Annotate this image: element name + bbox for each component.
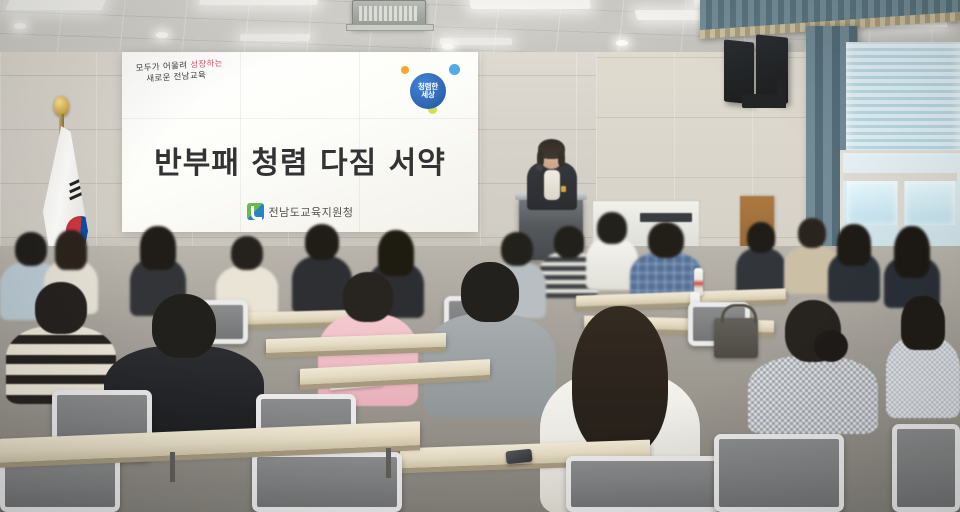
av-unit-slot [640, 213, 692, 222]
window-blinds[interactable] [846, 42, 960, 160]
attendee-head [15, 232, 47, 266]
education-office-logo-icon [247, 203, 264, 220]
attendee-hair [901, 296, 945, 350]
presenter-hair-side [558, 150, 565, 167]
logo-circle: 청렴한 세상 [410, 73, 446, 109]
chair-front[interactable] [714, 434, 844, 512]
attendee-hair [378, 230, 414, 276]
ceiling-light-panel [199, 0, 319, 5]
slide-headline: 반부패 청렴 다짐 서약 [122, 138, 478, 182]
attendee-head [501, 232, 533, 266]
speaker-mount-arm [777, 78, 786, 108]
chair-back [566, 456, 722, 512]
clean-world-logo: 청렴한 세상 [398, 62, 460, 114]
attendee-dark-navy [736, 222, 786, 296]
flag-finial-icon [54, 96, 69, 116]
logo-text-line2: 세상 [418, 91, 438, 99]
chair-back [892, 424, 960, 512]
attendee-dark-bob [828, 224, 880, 300]
slide-footer: 전남도교육지원청 [122, 203, 478, 220]
ceiling-light-panel [239, 34, 310, 41]
logo-text: 청렴한 세상 [418, 83, 438, 99]
slogan-line1-accent: 성장하는 [190, 59, 223, 71]
attendee-head [152, 294, 216, 358]
attendee-hair [55, 230, 87, 270]
ceiling-light-panel [469, 0, 591, 9]
attendee-head [461, 262, 519, 322]
downlight [616, 40, 628, 46]
attendee-hair-bun [814, 330, 848, 362]
attendee-striped-sweater [6, 282, 116, 402]
ceiling-light-panel [6, 0, 107, 10]
logo-dot-blue-icon [449, 64, 460, 75]
screen-seam [122, 118, 478, 119]
attendee-head [231, 236, 263, 270]
attendee-head [343, 272, 393, 322]
attendee-torso [748, 356, 878, 434]
attendee-head [597, 212, 627, 244]
attendee-head [554, 226, 584, 258]
slide-slogan: 모두가 어울려 성장하는 새로운 전남교육 [135, 56, 266, 87]
projection-screen: 모두가 어울려 성장하는 새로운 전남교육 청렴한 세상 반부패 청렴 다짐 서… [122, 52, 478, 232]
attendee-head [305, 224, 339, 260]
window-pane [905, 181, 955, 225]
trigram-icon [69, 177, 86, 187]
presenter-top [544, 170, 560, 200]
attendee-head [35, 282, 87, 334]
tote-bag [714, 318, 758, 358]
desk-leg [170, 452, 175, 482]
attendee-head [648, 222, 684, 258]
desk-leg [386, 448, 391, 478]
downlight [14, 23, 26, 29]
presenter-name-badge [561, 186, 566, 192]
downlight [442, 44, 454, 50]
attendee-hair [140, 226, 176, 270]
chair-front[interactable] [252, 452, 402, 512]
microphone-head-icon [536, 164, 543, 171]
smartphone[interactable] [505, 449, 532, 465]
chair-front[interactable] [892, 424, 960, 512]
window-mullion [898, 173, 904, 231]
projector-housing-trim [346, 24, 434, 31]
attendee-hair [572, 306, 668, 456]
chair-back [252, 452, 402, 512]
attendee-hair [837, 224, 871, 266]
attendee-head [747, 222, 775, 253]
conference-room-photo: 모두가 어울려 성장하는 새로운 전남교육 청렴한 세상 반부패 청렴 다짐 서… [0, 0, 960, 512]
attendee-head [798, 218, 826, 248]
attendee-torso [318, 314, 418, 406]
attendee-long-black-hair [884, 226, 940, 306]
window-pane [847, 181, 897, 225]
chair-back [714, 434, 844, 512]
attendee-hair [894, 226, 930, 278]
slide-footer-org: 전남도교육지원청 [269, 204, 354, 220]
tote-bag-handle [721, 304, 757, 323]
attendee-floral-print [748, 300, 878, 430]
logo-dot-orange-icon [401, 66, 409, 74]
attendee-white-knit-right [886, 296, 960, 416]
chair-front[interactable] [566, 456, 722, 512]
downlight [156, 32, 168, 38]
